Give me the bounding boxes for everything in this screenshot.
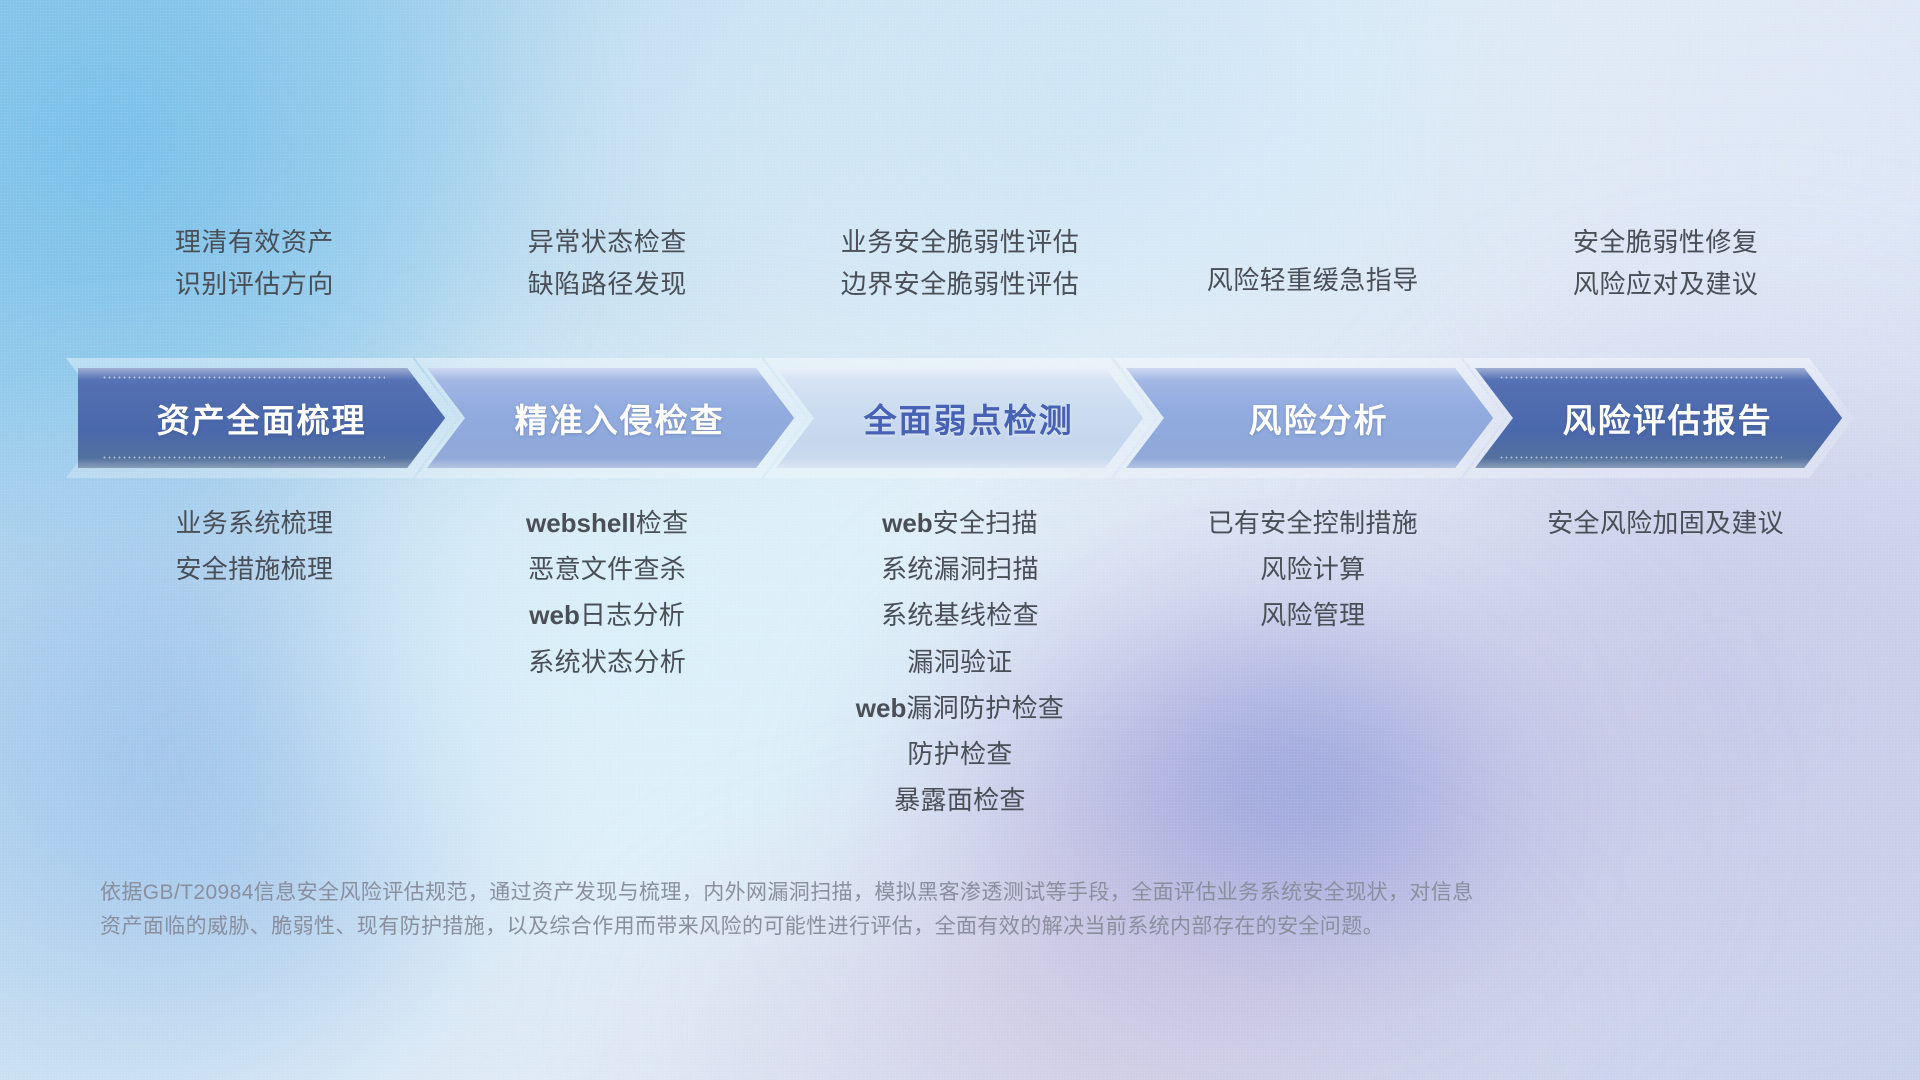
stage-item: 暴露面检查 [894,785,1026,816]
chevron-dot-texture [102,375,385,381]
footer-description: 依据GB/T20984信息安全风险评估规范，通过资产发现与梳理，内外网漏洞扫描，… [100,876,1660,944]
stage-item: 安全措施梳理 [175,554,333,585]
stage-item: 防护检查 [907,739,1012,770]
chevron-bottom-highlight [1126,458,1493,468]
chevron-bottom-highlight [427,458,794,468]
stage-item-list-asset-inventory: 业务系统梳理安全措施梳理 [78,508,431,585]
chevron-dot-texture [1499,455,1782,461]
top-caption: 识别评估方向 [175,270,334,300]
stage-item: 业务系统梳理 [175,508,333,539]
stage-item: 系统状态分析 [528,647,686,678]
stage-item: 安全风险加固及建议 [1547,508,1784,539]
chevron-stage-asset-inventory[interactable]: 资产全面梳理 [78,368,445,468]
chevron-stage-intrusion-check[interactable]: 精准入侵检查 [427,368,794,468]
chevron-top-highlight [1126,368,1493,380]
stage-item-list-risk-analysis: 已有安全控制措施风险计算风险管理 [1136,508,1489,632]
chevron-label-weakness-detection: 全面弱点检测 [864,394,1074,442]
top-caption: 理清有效资产 [175,228,334,258]
chevron-top-highlight [776,368,1143,380]
stage-item-list-weakness-detection: web安全扫描系统漏洞扫描系统基线检查漏洞验证web漏洞防护检查防护检查暴露面检… [784,508,1137,816]
top-caption: 安全脆弱性修复 [1573,228,1759,258]
top-caption-group-risk-report: 安全脆弱性修复风险应对及建议 [1489,228,1842,338]
top-caption: 风险应对及建议 [1573,270,1759,300]
chevron-label-risk-analysis: 风险分析 [1249,394,1389,442]
stage-item: web日志分析 [529,600,685,631]
chevron-stage-risk-analysis[interactable]: 风险分析 [1126,368,1493,468]
chevron-dot-texture [1499,375,1782,381]
chevron-label-risk-report: 风险评估报告 [1563,394,1773,442]
stage-item: 风险管理 [1260,600,1365,631]
stage-item: 恶意文件查杀 [528,554,686,585]
chevron-stage-risk-report[interactable]: 风险评估报告 [1475,368,1842,468]
chevron-bottom-highlight [776,458,1143,468]
top-caption-group-intrusion-check: 异常状态检查缺陷路径发现 [431,228,784,338]
stage-item: 系统基线检查 [881,600,1039,631]
stage-item: 已有安全控制措施 [1208,508,1418,539]
chevron-stage-weakness-detection[interactable]: 全面弱点检测 [776,368,1143,468]
top-caption: 边界安全脆弱性评估 [841,270,1080,300]
stage-items-row: 业务系统梳理安全措施梳理webshell检查恶意文件查杀web日志分析系统状态分… [78,508,1842,816]
top-caption: 业务安全脆弱性评估 [841,228,1080,258]
top-caption: 异常状态检查 [528,228,687,258]
footer-line: 依据GB/T20984信息安全风险评估规范，通过资产发现与梳理，内外网漏洞扫描，… [100,876,1660,910]
top-caption: 缺陷路径发现 [528,270,687,300]
stage-item: webshell检查 [526,508,688,539]
stage-item: 风险计算 [1260,554,1365,585]
slide-canvas: 理清有效资产识别评估方向异常状态检查缺陷路径发现业务安全脆弱性评估边界安全脆弱性… [0,0,1920,1080]
top-caption-group-weakness-detection: 业务安全脆弱性评估边界安全脆弱性评估 [784,228,1137,338]
top-caption: 风险轻重缓急指导 [1207,266,1419,296]
top-caption-group-asset-inventory: 理清有效资产识别评估方向 [78,228,431,338]
stage-item: 系统漏洞扫描 [881,554,1039,585]
stage-item: web安全扫描 [882,508,1038,539]
stage-item: 漏洞验证 [907,647,1012,678]
chevron-label-asset-inventory: 资产全面梳理 [157,394,367,442]
stage-item: web漏洞防护检查 [856,693,1064,724]
chevron-label-intrusion-check: 精准入侵检查 [515,394,725,442]
slide-content: 理清有效资产识别评估方向异常状态检查缺陷路径发现业务安全脆弱性评估边界安全脆弱性… [0,0,1920,1080]
footer-line: 资产面临的威胁、脆弱性、现有防护措施，以及综合作用而带来风险的可能性进行评估，全… [100,910,1660,944]
stage-item-list-risk-report: 安全风险加固及建议 [1489,508,1842,539]
chevron-top-highlight [427,368,794,380]
chevron-dot-texture [102,455,385,461]
top-caption-row: 理清有效资产识别评估方向异常状态检查缺陷路径发现业务安全脆弱性评估边界安全脆弱性… [78,228,1842,338]
top-caption-group-risk-analysis: 风险轻重缓急指导 [1136,228,1489,338]
stage-item-list-intrusion-check: webshell检查恶意文件查杀web日志分析系统状态分析 [431,508,784,678]
process-chevron-banner: 资产全面梳理精准入侵检查全面弱点检测风险分析风险评估报告 [78,368,1842,468]
